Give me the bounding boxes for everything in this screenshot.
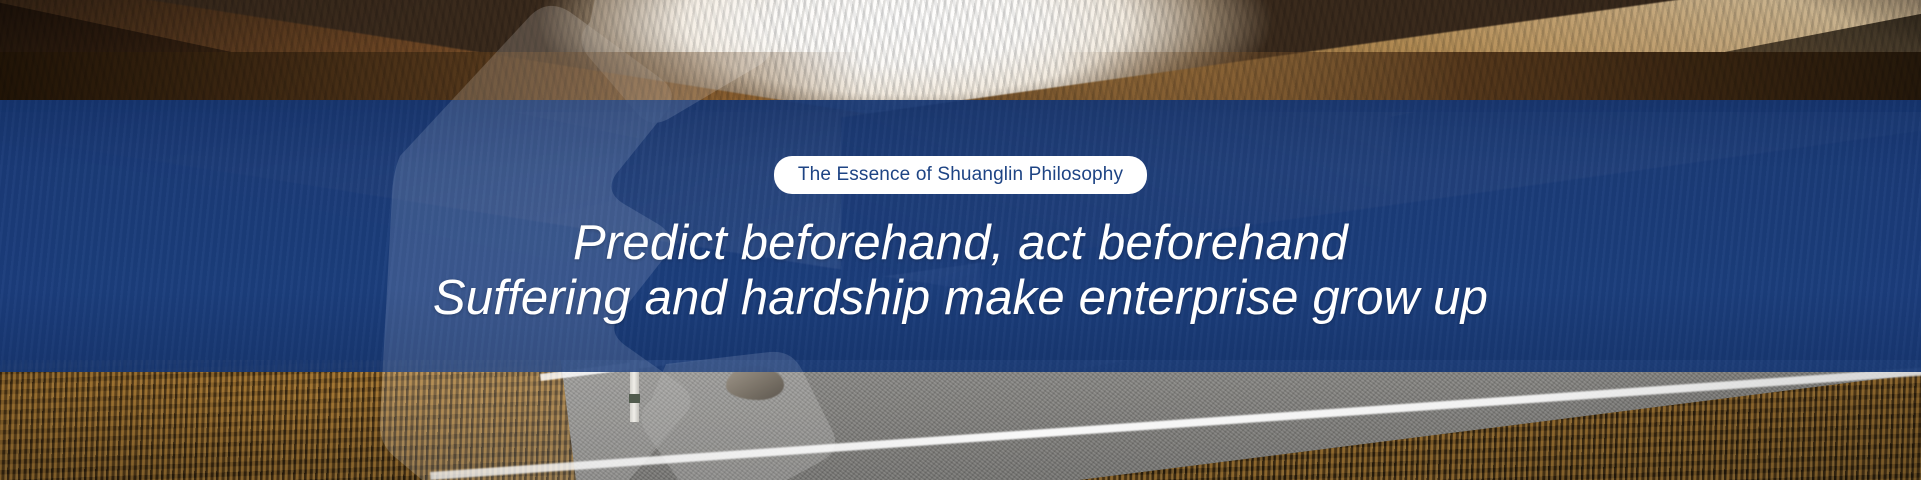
slope-texture [0, 0, 1921, 110]
hero-banner: The Essence of Shuanglin Philosophy Pred… [0, 0, 1921, 480]
headline: Predict beforehand, act beforehand Suffe… [433, 216, 1488, 327]
banner-content: The Essence of Shuanglin Philosophy Pred… [0, 100, 1921, 372]
philosophy-badge: The Essence of Shuanglin Philosophy [774, 156, 1147, 194]
blue-overlay-band: The Essence of Shuanglin Philosophy Pred… [0, 100, 1921, 372]
foreground-scene [0, 360, 1921, 480]
headline-line-1: Predict beforehand, act beforehand [433, 216, 1488, 271]
roadside-post-band [629, 394, 640, 403]
headline-line-2: Suffering and hardship make enterprise g… [433, 271, 1488, 326]
